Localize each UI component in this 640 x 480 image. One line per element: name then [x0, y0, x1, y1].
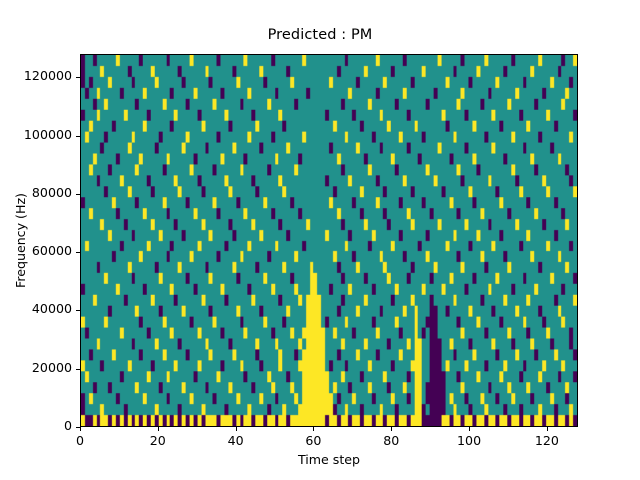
x-tick-label: 20	[150, 433, 166, 448]
x-tick-mark	[236, 427, 237, 431]
x-tick-label: 100	[457, 433, 481, 448]
y-axis-label: Frequency (Hz)	[14, 54, 28, 427]
x-axis-label: Time step	[80, 452, 578, 467]
x-tick-label: 120	[535, 433, 559, 448]
page-title: Predicted : PM	[0, 27, 640, 43]
y-tick-mark	[76, 194, 80, 195]
x-tick-mark	[469, 427, 470, 431]
y-tick-mark	[76, 136, 80, 137]
y-tick-mark	[76, 77, 80, 78]
spectrogram-heatmap[interactable]	[81, 55, 577, 426]
y-tick-mark	[76, 427, 80, 428]
y-tick-mark	[76, 310, 80, 311]
spectrogram-axes[interactable]	[80, 54, 578, 427]
y-tick-mark	[76, 252, 80, 253]
x-tick-mark	[158, 427, 159, 431]
x-tick-mark	[313, 427, 314, 431]
x-tick-mark	[547, 427, 548, 431]
x-tick-mark	[391, 427, 392, 431]
x-tick-label: 60	[305, 433, 321, 448]
x-tick-mark	[80, 427, 81, 431]
x-tick-label: 40	[228, 433, 244, 448]
y-tick-mark	[76, 369, 80, 370]
matplotlib-figure: Predicted : PM 020406080100120 020000400…	[0, 0, 640, 480]
x-tick-label: 0	[76, 433, 84, 448]
x-tick-label: 80	[383, 433, 399, 448]
